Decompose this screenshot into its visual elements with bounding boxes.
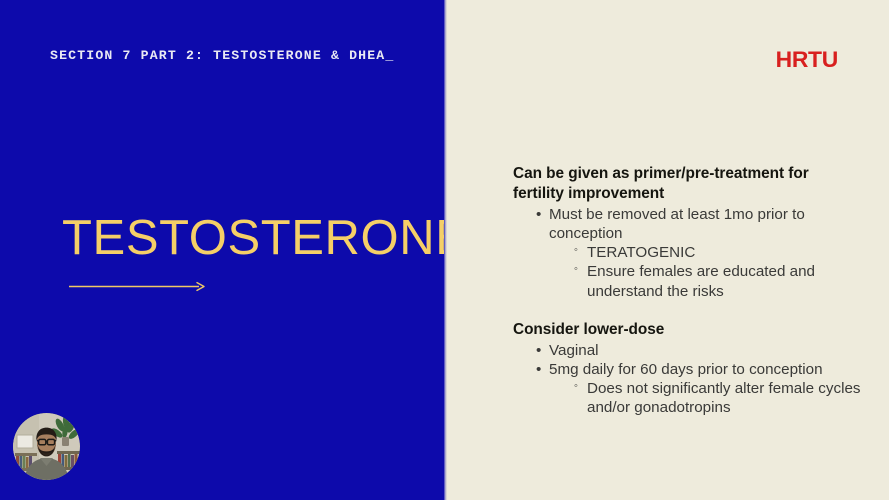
bullet-circle-icon: ◦ <box>574 244 578 258</box>
bullet-circle-icon: ◦ <box>574 380 578 394</box>
presentation-slide: SECTION 7 PART 2: TESTOSTERONE & DHEA_ T… <box>0 0 889 500</box>
block-heading: Consider lower-dose <box>513 320 861 340</box>
slide-right-panel: HRTU Can be given as primer/pre-treatmen… <box>447 0 889 500</box>
bullet-disc-icon: • <box>536 360 541 379</box>
bullet-list: •Vaginal•5mg daily for 60 days prior to … <box>513 341 861 418</box>
sub-list-item-label: Does not significantly alter female cycl… <box>587 380 861 416</box>
sub-bullet-list: ◦TERATOGENIC◦Ensure females are educated… <box>549 243 861 301</box>
page-title: TESTOSTERONE <box>62 214 469 263</box>
sub-list-item-label: Ensure females are educated and understa… <box>587 263 815 299</box>
list-item-label: Vaginal <box>549 342 599 359</box>
slide-content: Can be given as primer/pre-treatment for… <box>513 164 861 418</box>
bullet-circle-icon: ◦ <box>574 263 578 277</box>
sub-bullet-list: ◦Does not significantly alter female cyc… <box>549 379 861 417</box>
content-block: Can be given as primer/pre-treatment for… <box>513 164 861 301</box>
list-item: •Must be removed at least 1mo prior to c… <box>536 205 861 301</box>
bullet-list: •Must be removed at least 1mo prior to c… <box>513 205 861 301</box>
list-item-label: Must be removed at least 1mo prior to co… <box>549 206 805 242</box>
sub-list-item: ◦TERATOGENIC <box>574 243 861 262</box>
sub-list-item: ◦Ensure females are educated and underst… <box>574 262 861 300</box>
bullet-disc-icon: • <box>536 205 541 224</box>
list-item-label: 5mg daily for 60 days prior to conceptio… <box>549 361 823 378</box>
list-item: •Vaginal <box>536 341 861 360</box>
sub-list-item: ◦Does not significantly alter female cyc… <box>574 379 861 417</box>
block-heading: Can be given as primer/pre-treatment for… <box>513 164 861 204</box>
sub-list-item-label: TERATOGENIC <box>587 244 695 261</box>
section-label: SECTION 7 PART 2: TESTOSTERONE & DHEA_ <box>50 48 394 63</box>
slide-left-panel: SECTION 7 PART 2: TESTOSTERONE & DHEA_ T… <box>0 0 444 500</box>
arrow-right-icon <box>69 281 205 292</box>
bullet-disc-icon: • <box>536 341 541 360</box>
list-item: •5mg daily for 60 days prior to concepti… <box>536 360 861 418</box>
avatar <box>13 413 80 480</box>
hrtu-logo: HRTU <box>776 47 838 73</box>
presenter-webcam-avatar <box>13 413 80 480</box>
content-block: Consider lower-dose•Vaginal•5mg daily fo… <box>513 320 861 418</box>
